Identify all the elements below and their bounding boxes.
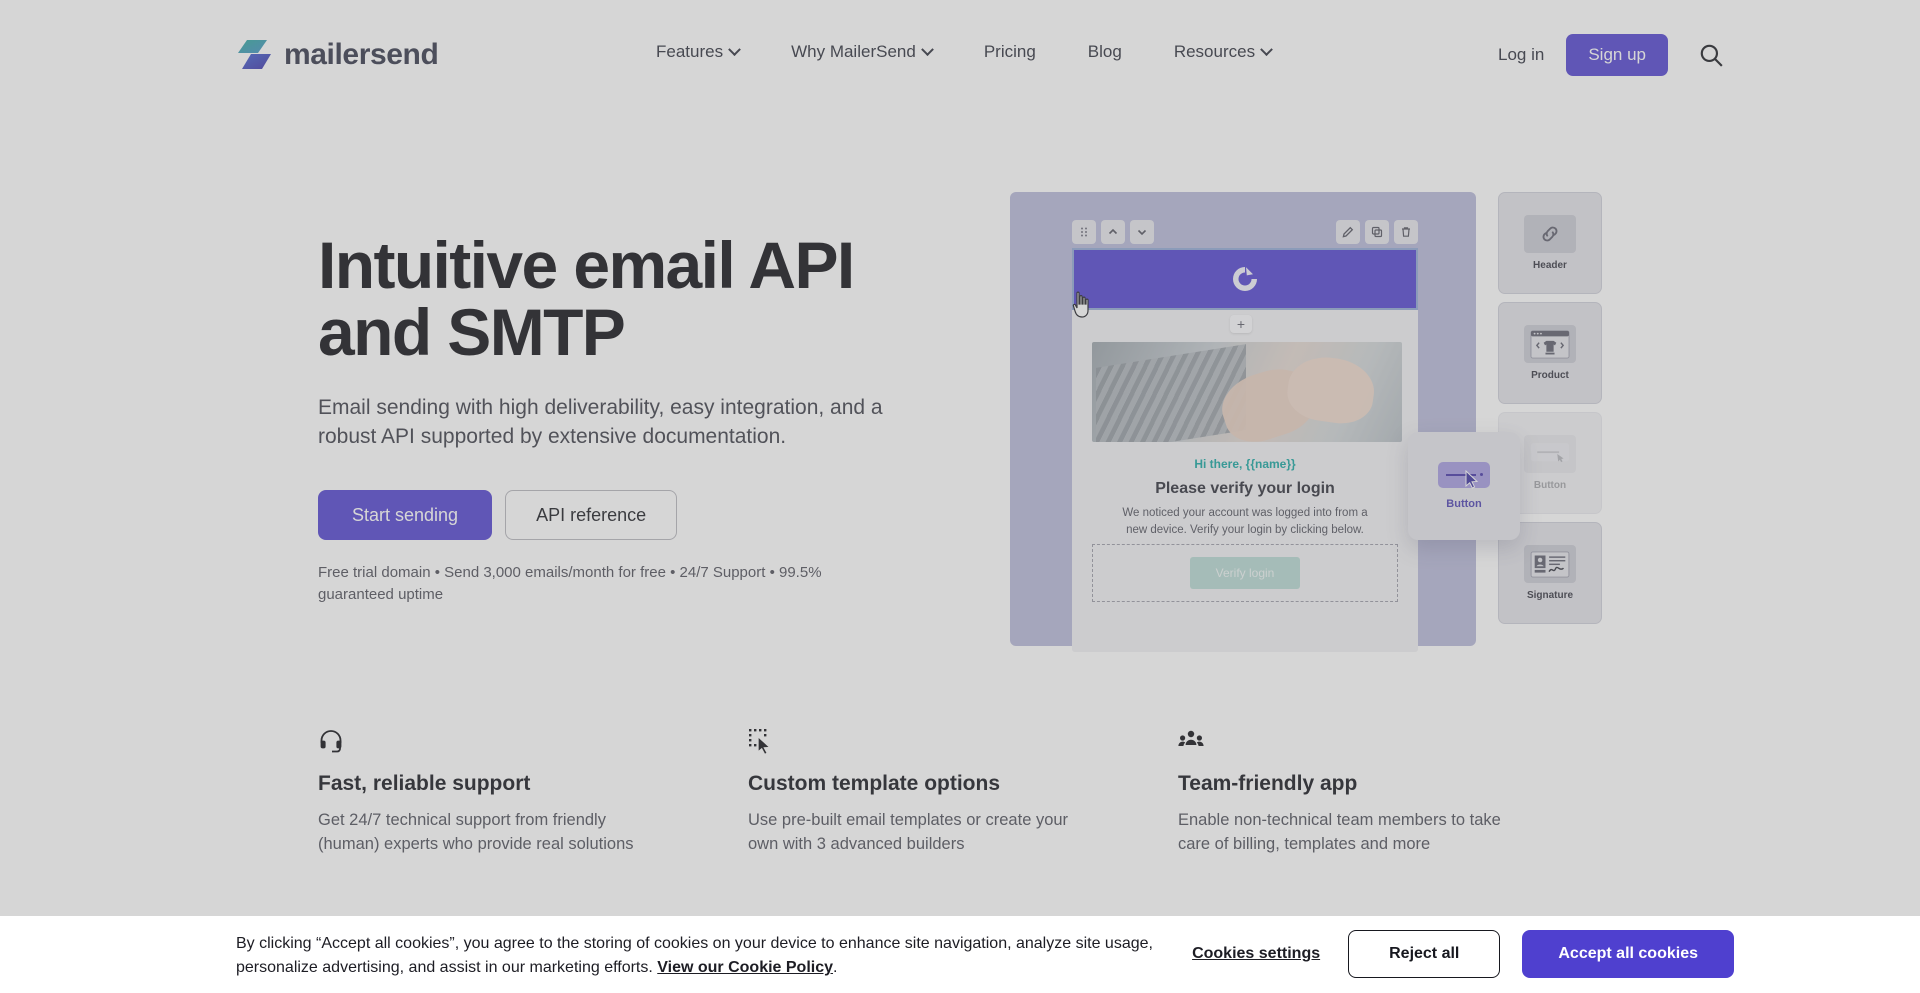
feature-row: Fast, reliable support Get 24/7 technica… <box>318 728 1608 857</box>
block-label: Header <box>1533 260 1567 271</box>
feature-fast-reliable-support: Fast, reliable support Get 24/7 technica… <box>318 728 748 857</box>
block-card-header[interactable]: Header <box>1498 192 1602 294</box>
block-label: Button <box>1534 480 1566 491</box>
cookie-banner-actions: Cookies settings Reject all Accept all c… <box>1192 930 1734 978</box>
feature-description: Get 24/7 technical support from friendly… <box>318 808 676 857</box>
verify-login-button[interactable]: Verify login <box>1190 557 1301 589</box>
cookie-text-tail: . <box>833 959 837 976</box>
hero-note: Free trial domain • Send 3,000 emails/mo… <box>318 562 878 605</box>
feature-title: Team-friendly app <box>1178 772 1536 796</box>
block-drop-zone[interactable]: Verify login <box>1092 544 1398 602</box>
hero-cta-group: Start sending API reference <box>318 490 958 540</box>
email-brand-logo-icon <box>1230 264 1260 294</box>
email-builder-illustration: + Hi there, {{name}} Please verify your … <box>1010 192 1630 662</box>
cookie-consent-banner: By clicking “Accept all cookies”, you ag… <box>0 916 1920 993</box>
signature-icon <box>1524 545 1576 583</box>
cookie-banner-text: By clicking “Accept all cookies”, you ag… <box>236 932 1176 980</box>
nav-item-features[interactable]: Features <box>630 42 765 62</box>
headset-icon <box>318 728 676 756</box>
feature-title: Fast, reliable support <box>318 772 676 796</box>
signup-button[interactable]: Sign up <box>1566 34 1668 76</box>
site-logo[interactable]: mailersend <box>236 38 438 72</box>
nav-label: Features <box>656 42 723 62</box>
block-label: Signature <box>1527 590 1573 601</box>
page-content: mailersend Features Why MailerSend Prici… <box>0 0 1920 916</box>
dragging-block-label: Button <box>1446 498 1481 510</box>
site-header: mailersend Features Why MailerSend Prici… <box>0 0 1920 114</box>
feature-team-friendly-app: Team-friendly app Enable non-technical t… <box>1178 728 1608 857</box>
nav-item-resources[interactable]: Resources <box>1148 42 1297 62</box>
hand-cursor-icon <box>1070 290 1096 320</box>
page-root: mailersend Features Why MailerSend Prici… <box>0 0 1920 993</box>
block-card-product[interactable]: Product <box>1498 302 1602 404</box>
dragging-block-card[interactable]: Button <box>1408 432 1520 540</box>
main-navigation: Features Why MailerSend Pricing Blog Res… <box>630 42 1297 62</box>
copy-icon[interactable] <box>1365 220 1389 244</box>
page-title: Intuitive email API and SMTP <box>318 232 958 367</box>
mailersend-logo-icon <box>236 38 272 72</box>
laptop-keyboard-graphic <box>1096 344 1246 442</box>
email-header-block[interactable] <box>1072 248 1418 310</box>
email-image-block[interactable] <box>1092 342 1402 442</box>
nav-item-pricing[interactable]: Pricing <box>958 42 1062 62</box>
feature-description: Use pre-built email templates or create … <box>748 808 1106 857</box>
team-icon <box>1178 728 1536 756</box>
login-link[interactable]: Log in <box>1476 45 1566 65</box>
logo-text: mailersend <box>284 38 438 72</box>
nav-label: Pricing <box>984 42 1036 62</box>
hero-section: Intuitive email API and SMTP Email sendi… <box>318 232 958 605</box>
email-body-text: We noticed your account was logged into … <box>1092 505 1398 540</box>
email-greeting-text: Hi there, {{name}} <box>1072 457 1418 471</box>
header-actions: Log in Sign up <box>1476 34 1724 76</box>
chevron-down-icon <box>921 43 934 56</box>
button-icon <box>1524 435 1576 473</box>
email-heading-text: Please verify your login <box>1072 480 1418 498</box>
feature-custom-template-options: Custom template options Use pre-built em… <box>748 728 1178 857</box>
accept-all-cookies-button[interactable]: Accept all cookies <box>1522 930 1734 978</box>
block-toolbar-left <box>1072 220 1154 244</box>
block-toolbar-right <box>1336 220 1418 244</box>
start-sending-button[interactable]: Start sending <box>318 490 492 540</box>
add-block-button[interactable]: + <box>1230 315 1252 333</box>
chevron-up-icon[interactable] <box>1101 220 1125 244</box>
nav-item-why-mailersend[interactable]: Why MailerSend <box>765 42 958 62</box>
arrow-cursor-icon <box>1464 470 1480 490</box>
chevron-down-icon[interactable] <box>1130 220 1154 244</box>
pencil-icon[interactable] <box>1336 220 1360 244</box>
drag-handle-icon[interactable] <box>1072 220 1096 244</box>
block-label: Product <box>1531 370 1569 381</box>
cookie-policy-link[interactable]: View our Cookie Policy <box>657 959 833 976</box>
product-carousel-icon <box>1524 325 1576 363</box>
cookies-settings-link[interactable]: Cookies settings <box>1192 945 1326 963</box>
feature-title: Custom template options <box>748 772 1106 796</box>
chevron-down-icon <box>1260 43 1273 56</box>
nav-item-blog[interactable]: Blog <box>1062 42 1148 62</box>
api-reference-button[interactable]: API reference <box>505 490 677 540</box>
feature-description: Enable non-technical team members to tak… <box>1178 808 1536 857</box>
drag-select-icon <box>748 728 1106 756</box>
trash-icon[interactable] <box>1394 220 1418 244</box>
link-icon <box>1524 215 1576 253</box>
reject-all-button[interactable]: Reject all <box>1348 930 1500 978</box>
block-toolbar <box>1072 220 1418 244</box>
search-icon[interactable] <box>1698 42 1724 68</box>
nav-label: Why MailerSend <box>791 42 916 62</box>
hero-subtitle: Email sending with high deliverability, … <box>318 393 958 453</box>
nav-label: Resources <box>1174 42 1255 62</box>
chevron-down-icon <box>728 43 741 56</box>
nav-label: Blog <box>1088 42 1122 62</box>
